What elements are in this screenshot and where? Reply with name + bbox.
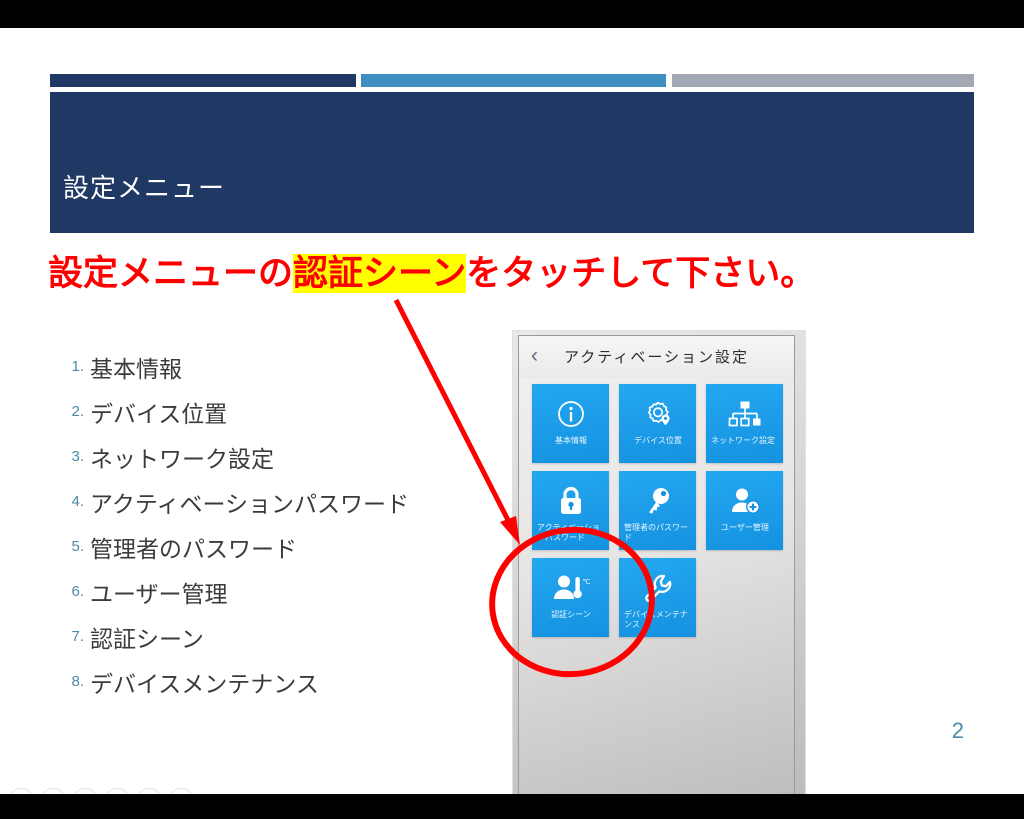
list-item: 3 ネットワーク設定 <box>52 436 492 481</box>
list-item-label: ユーザー管理 <box>90 575 228 609</box>
svg-text:℃: ℃ <box>582 578 590 586</box>
phone-tile-device-maintenance[interactable]: デバイスメンテナンス <box>619 558 696 637</box>
phone-tile-device-location[interactable]: デバイス位置 <box>619 384 696 463</box>
user-add-icon <box>706 484 783 518</box>
list-item-label: ネットワーク設定 <box>90 440 274 474</box>
phone-screen: ‹ アクティベーション設定 基本情報 <box>518 335 795 794</box>
list-item: 7 認証シーン <box>52 616 492 661</box>
more-options-button[interactable] <box>168 788 194 794</box>
slide-canvas: 設定メニュー 設定メニューの認証シーンをタッチして下さい。 1 基本情報 2 デ… <box>0 28 1024 794</box>
list-item: 6 ユーザー管理 <box>52 571 492 616</box>
list-item: 2 デバイス位置 <box>52 391 492 436</box>
phone-tile-activation-password[interactable]: アクティベーションパスワード <box>532 471 609 550</box>
phone-header: ‹ アクティベーション設定 <box>519 336 794 378</box>
instruction-highlight: 認証シーン <box>293 254 466 293</box>
page-number: 2 <box>952 718 964 744</box>
slide-viewer: 設定メニュー 設定メニューの認証シーンをタッチして下さい。 1 基本情報 2 デ… <box>0 0 1024 819</box>
decorative-bar-group <box>50 74 974 87</box>
gear-location-icon <box>619 397 696 431</box>
presenter-toolbar <box>8 788 194 794</box>
phone-tile-label: デバイス位置 <box>624 436 692 446</box>
instruction-prefix: 設定メニューの <box>48 254 293 293</box>
page-title: 設定メニュー <box>63 168 225 205</box>
list-item-number: 4 <box>58 493 84 510</box>
instruction-text: 設定メニューの認証シーンをタッチして下さい。 <box>48 250 868 298</box>
list-item-number: 3 <box>58 448 84 465</box>
list-item-label: 管理者のパスワード <box>90 530 297 564</box>
phone-tile-label: アクティベーションパスワード <box>537 523 605 543</box>
phone-photo: ‹ アクティベーション設定 基本情報 <box>513 331 805 794</box>
list-item-number: 5 <box>58 538 84 555</box>
list-item-number: 1 <box>58 358 84 375</box>
phone-tile-label: ネットワーク設定 <box>711 436 779 446</box>
user-temperature-icon: ℃ <box>532 571 609 605</box>
list-item: 8 デバイスメンテナンス <box>52 661 492 706</box>
phone-tile-label: ユーザー管理 <box>711 523 779 533</box>
list-item-label: アクティベーションパスワード <box>90 485 409 519</box>
phone-tile-label: 認証シーン <box>537 610 605 620</box>
info-circle-icon <box>532 397 609 431</box>
next-slide-button[interactable] <box>40 788 66 794</box>
phone-tile-auth-scene[interactable]: ℃ 認証シーン <box>532 558 609 637</box>
zoom-button[interactable] <box>136 788 162 794</box>
key-icon <box>619 484 696 518</box>
settings-menu-list: 1 基本情報 2 デバイス位置 3 ネットワーク設定 4 アクティベーションパス… <box>52 346 492 706</box>
decorative-bar-navy <box>50 74 356 87</box>
previous-slide-button[interactable] <box>8 788 34 794</box>
lock-icon <box>532 484 609 518</box>
phone-tile-basic-info[interactable]: 基本情報 <box>532 384 609 463</box>
list-item-number: 8 <box>58 673 84 690</box>
decorative-bar-blue <box>361 74 666 87</box>
list-item: 4 アクティベーションパスワード <box>52 481 492 526</box>
list-item-label: 認証シーン <box>90 620 204 654</box>
list-item-number: 2 <box>58 403 84 420</box>
phone-tile-user-management[interactable]: ユーザー管理 <box>706 471 783 550</box>
network-tree-icon <box>706 397 783 431</box>
list-item-number: 6 <box>58 583 84 600</box>
slideshow-button[interactable] <box>104 788 130 794</box>
pen-button[interactable] <box>72 788 98 794</box>
list-item-number: 7 <box>58 628 84 645</box>
phone-tile-label: デバイスメンテナンス <box>624 610 692 630</box>
phone-tile-label: 基本情報 <box>537 436 605 446</box>
list-item: 5 管理者のパスワード <box>52 526 492 571</box>
phone-header-title: アクティベーション設定 <box>519 346 794 367</box>
list-item-label: 基本情報 <box>90 350 182 384</box>
decorative-bar-gray <box>672 74 974 87</box>
list-item-label: デバイス位置 <box>90 395 227 429</box>
title-banner: 設定メニュー <box>50 92 974 233</box>
phone-tile-admin-password[interactable]: 管理者のパスワード <box>619 471 696 550</box>
phone-tile-label: 管理者のパスワード <box>624 523 692 543</box>
instruction-suffix: をタッチして下さい。 <box>466 254 815 293</box>
list-item: 1 基本情報 <box>52 346 492 391</box>
wrench-icon <box>619 571 696 605</box>
phone-tile-network-settings[interactable]: ネットワーク設定 <box>706 384 783 463</box>
list-item-label: デバイスメンテナンス <box>90 665 319 699</box>
